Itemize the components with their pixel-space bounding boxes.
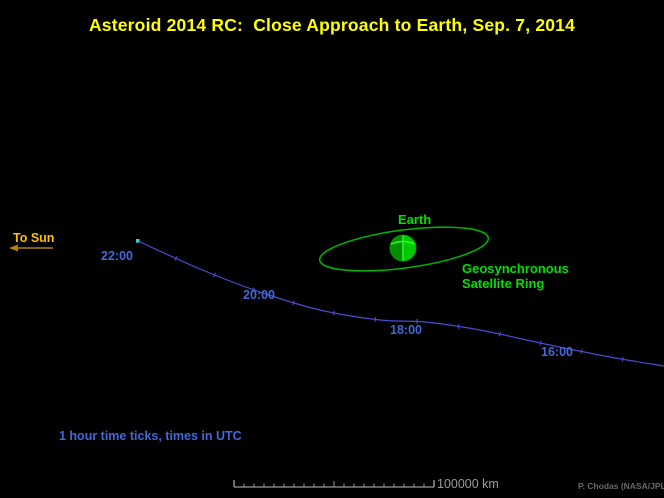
- hour-tick-mark: [458, 324, 459, 329]
- hour-tick-mark: [375, 317, 376, 322]
- earth-globe: [389, 233, 419, 265]
- to-sun-arrow-head: [9, 245, 18, 252]
- hour-tick-mark: [293, 301, 294, 306]
- hour-tick-mark: [622, 357, 623, 362]
- to-sun-label: To Sun: [13, 231, 54, 245]
- geosync-ring-label-line1: Geosynchronous: [462, 261, 569, 276]
- hour-tick-mark: [581, 349, 582, 354]
- orbit-diagram-svg: [0, 0, 664, 498]
- geosync-ring-label-line2: Satellite Ring: [462, 276, 544, 291]
- time-label-1600: 16:00: [541, 345, 573, 359]
- hour-tick-mark: [333, 311, 334, 316]
- time-label-1800: 18:00: [390, 323, 422, 337]
- time-label-2200: 22:00: [101, 249, 133, 263]
- to-sun-arrow: [9, 245, 53, 252]
- scale-bar-ticks: [234, 480, 434, 487]
- trajectory-start-marker: [136, 239, 140, 243]
- earth-label: Earth: [398, 212, 431, 227]
- hour-tick-mark: [499, 332, 500, 337]
- scale-bar-label: 100000 km: [437, 477, 499, 491]
- credit-text: P. Chodas (NASA/JPL): [578, 481, 664, 491]
- time-tick-legend-note: 1 hour time ticks, times in UTC: [59, 429, 242, 443]
- time-label-2000: 20:00: [243, 288, 275, 302]
- scale-bar: [234, 480, 434, 487]
- figure-canvas: Asteroid 2014 RC: Close Approach to Eart…: [0, 0, 664, 498]
